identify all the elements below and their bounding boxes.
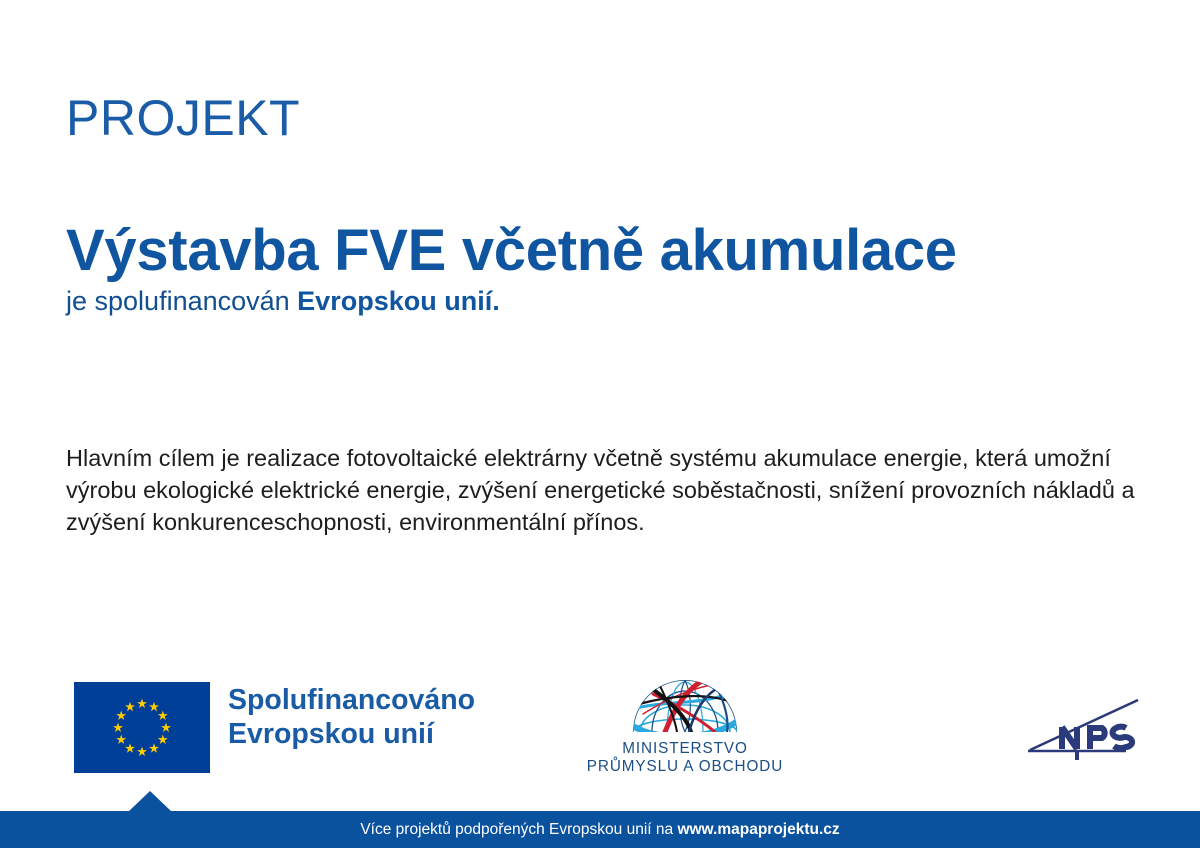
- eu-project-poster: PROJEKT Výstavba FVE včetně akumulace je…: [0, 0, 1200, 848]
- ministry-line1: MINISTERSTVO: [575, 740, 795, 758]
- footer-bar: Více projektů podpořených Evropskou unií…: [0, 811, 1200, 848]
- eu-stars-icon: [74, 682, 210, 773]
- footer-text: Více projektů podpořených Evropskou unií…: [0, 811, 1200, 848]
- subtitle-prefix: je spolufinancován: [66, 286, 297, 316]
- logo-strip: Spolufinancováno Evropskou unií: [0, 660, 1200, 790]
- cofinancing-subtitle: je spolufinancován Evropskou unií.: [66, 285, 500, 317]
- partner-logo: [1022, 694, 1152, 766]
- footer-arrow-icon: [128, 791, 172, 812]
- eu-logo-wordmark: Spolufinancováno Evropskou unií: [228, 684, 475, 751]
- nps-monogram-icon: [1022, 694, 1152, 766]
- eu-flag-icon: [74, 682, 210, 773]
- project-description: Hlavním cílem je realizace fotovoltaické…: [66, 442, 1144, 539]
- eu-cofinancing-logo: Spolufinancováno Evropskou unií: [74, 682, 475, 773]
- ministry-wordmark: MINISTERSTVO PRŮMYSLU A OBCHODU: [575, 740, 795, 776]
- ministry-line2: PRŮMYSLU A OBCHODU: [575, 758, 795, 776]
- footer-url[interactable]: www.mapaprojektu.cz: [677, 821, 839, 838]
- page-title: Výstavba FVE včetně akumulace: [66, 221, 957, 282]
- footer-text-prefix: Více projektů podpořených Evropskou unií…: [360, 821, 677, 838]
- eu-logo-line2: Evropskou unií: [228, 718, 475, 752]
- globe-icon: [629, 670, 741, 736]
- subtitle-strong: Evropskou unií.: [297, 286, 500, 316]
- ministry-logo: MINISTERSTVO PRŮMYSLU A OBCHODU: [575, 670, 795, 776]
- eu-logo-line1: Spolufinancováno: [228, 684, 475, 718]
- project-kicker: PROJEKT: [66, 93, 300, 143]
